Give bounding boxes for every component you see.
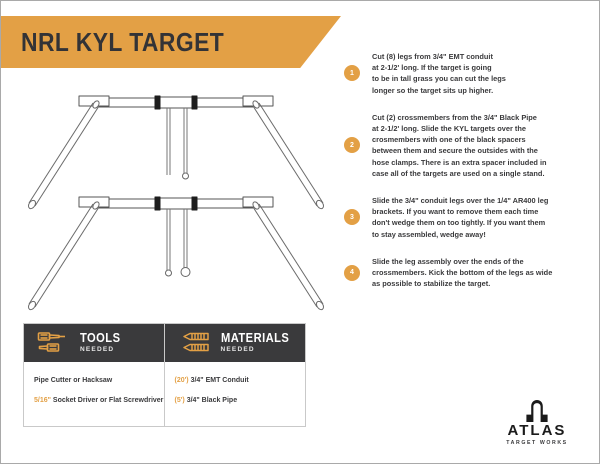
item-name: 3/4" EMT Conduit bbox=[191, 377, 249, 384]
step-number-badge: 4 bbox=[344, 265, 360, 281]
page-title: NRL KYL TARGET bbox=[21, 27, 224, 58]
materials-title: MATERIALS bbox=[221, 331, 289, 344]
step-text: Slide the 3/4" conduit legs over the 1/4… bbox=[372, 195, 548, 240]
item-name: 3/4" Black Pipe bbox=[187, 397, 237, 404]
stand-drawing-svg bbox=[21, 73, 331, 313]
requirements-panels: TOOLS NEEDED Pipe Cutter or Hacksaw 5/16… bbox=[23, 323, 306, 427]
tools-panel-titles: TOOLS NEEDED bbox=[80, 331, 127, 355]
tools-list: Pipe Cutter or Hacksaw 5/16" Socket Driv… bbox=[24, 362, 164, 426]
step-text: Cut (8) legs from 3/4" EMT conduit at 2-… bbox=[372, 51, 506, 96]
logo-name: ATLAS bbox=[495, 423, 579, 438]
materials-list: (20') 3/4" EMT Conduit (5') 3/4" Black P… bbox=[165, 362, 306, 426]
step-item: 4 Slide the leg assembly over the ends o… bbox=[344, 256, 594, 290]
atlas-a-icon bbox=[524, 400, 550, 422]
step-number-badge: 2 bbox=[344, 137, 360, 153]
materials-panel: MATERIALS NEEDED (20') 3/4" EMT Conduit … bbox=[165, 324, 306, 426]
header-banner: NRL KYL TARGET bbox=[1, 16, 341, 68]
tools-title: TOOLS bbox=[80, 331, 120, 344]
step-text: Slide the leg assembly over the ends of … bbox=[372, 256, 552, 290]
item-qty: (20') bbox=[175, 377, 189, 384]
list-item: (5') 3/4" Black Pipe bbox=[175, 396, 306, 405]
tools-panel: TOOLS NEEDED Pipe Cutter or Hacksaw 5/16… bbox=[24, 324, 165, 426]
tools-panel-header: TOOLS NEEDED bbox=[24, 324, 164, 362]
list-item: Pipe Cutter or Hacksaw bbox=[34, 376, 164, 385]
item-qty: (5') bbox=[175, 397, 185, 404]
materials-panel-titles: MATERIALS NEEDED bbox=[221, 331, 300, 355]
logo-tagline: TARGET WORKS bbox=[495, 439, 579, 447]
screwdrivers-icon bbox=[34, 331, 74, 355]
item-qty: 5/16" bbox=[34, 397, 51, 404]
brand-logo: ATLAS TARGET WORKS bbox=[495, 400, 579, 447]
instruction-sheet: NRL KYL TARGET bbox=[0, 0, 600, 464]
screws-icon bbox=[175, 331, 215, 355]
step-number-badge: 3 bbox=[344, 209, 360, 225]
instruction-steps: 1 Cut (8) legs from 3/4" EMT conduit at … bbox=[344, 51, 594, 305]
step-number-badge: 1 bbox=[344, 65, 360, 81]
step-item: 3 Slide the 3/4" conduit legs over the 1… bbox=[344, 195, 594, 240]
materials-subtitle: NEEDED bbox=[221, 345, 300, 355]
item-name: Socket Driver or Flat Screwdriver bbox=[53, 397, 164, 404]
step-item: 2 Cut (2) crossmembers from the 3/4" Bla… bbox=[344, 112, 594, 179]
target-stand-diagram bbox=[21, 73, 331, 313]
step-item: 1 Cut (8) legs from 3/4" EMT conduit at … bbox=[344, 51, 594, 96]
item-name: Pipe Cutter or Hacksaw bbox=[34, 377, 112, 384]
list-item: (20') 3/4" EMT Conduit bbox=[175, 376, 306, 385]
step-text: Cut (2) crossmembers from the 3/4" Black… bbox=[372, 112, 547, 179]
materials-panel-header: MATERIALS NEEDED bbox=[165, 324, 306, 362]
tools-subtitle: NEEDED bbox=[80, 345, 127, 355]
list-item: 5/16" Socket Driver or Flat Screwdriver bbox=[34, 396, 164, 405]
